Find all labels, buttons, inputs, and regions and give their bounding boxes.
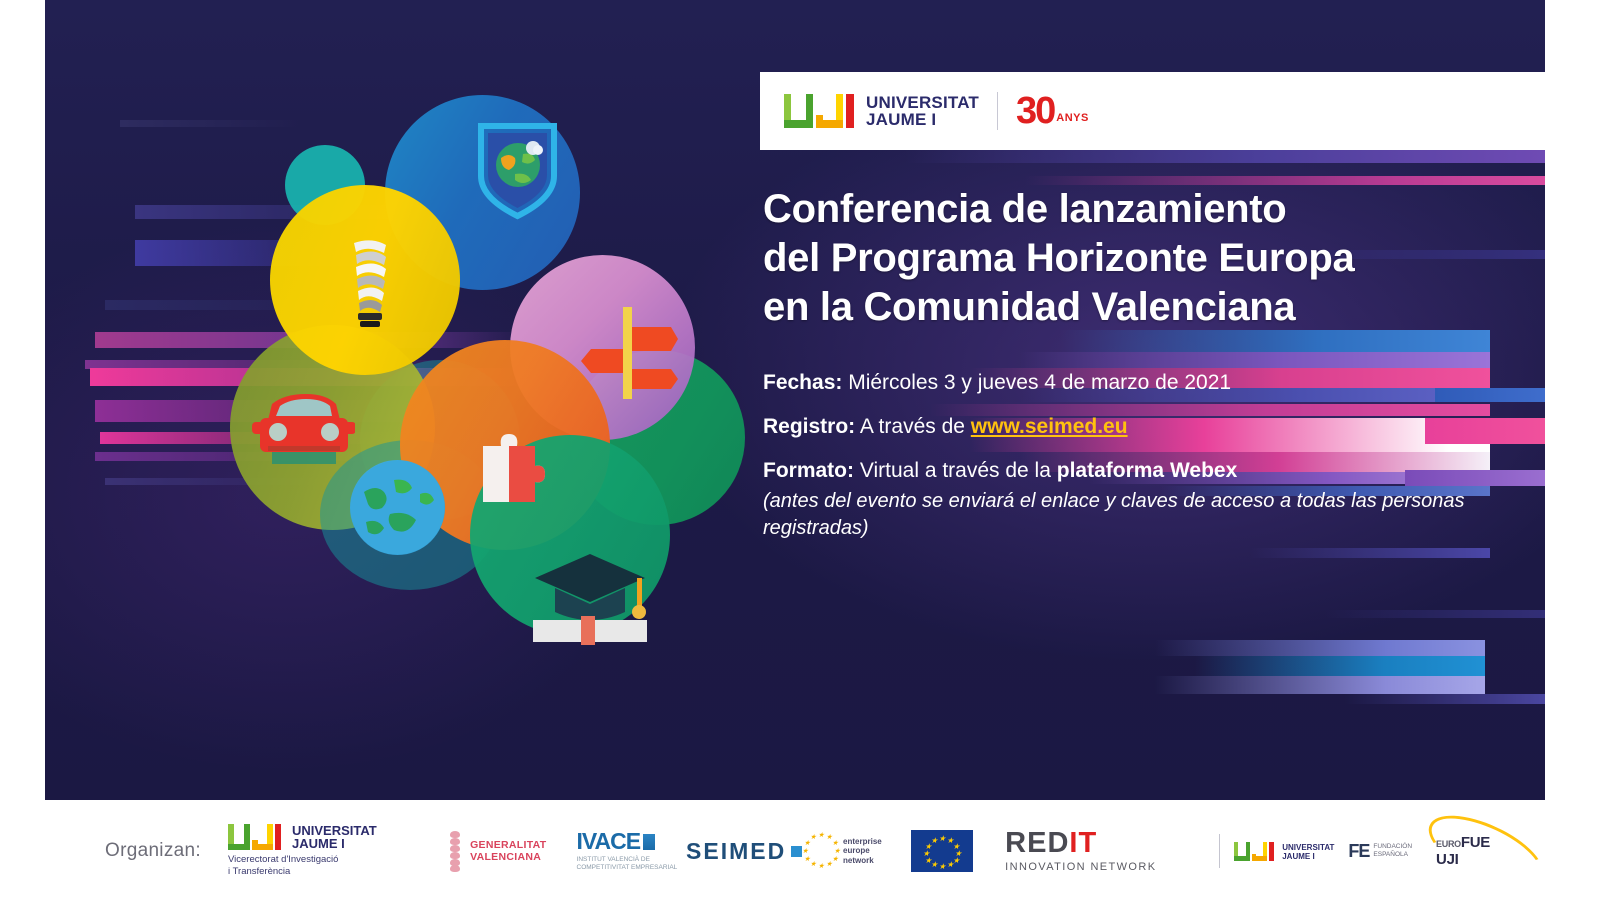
fe-mark: FE (1348, 842, 1369, 860)
fe-subtitle: FUNDACIÓN ESPAÑOLA (1373, 843, 1412, 859)
european-union-flag-icon: ★★ ★★ ★★ ★★ ★★ ★★ (911, 830, 973, 872)
logo-fe: FE FUNDACIÓN ESPAÑOLA (1348, 842, 1412, 860)
uji-wordmark: UNIVERSITAT JAUME I (1282, 843, 1334, 861)
uji-letter-j-icon (252, 824, 273, 850)
uji-subtitle: Vicerectorat d'Investigació i Transferèn… (228, 854, 377, 878)
puzzle-piece-icon (475, 430, 545, 505)
generalitat-line2: VALENCIANA (470, 851, 546, 863)
uji-wordmark: UNIVERSITAT JAUME I (866, 94, 979, 128)
uji-letter-j-icon (816, 94, 843, 128)
uji-letter-j-icon (1252, 842, 1267, 861)
detail-fechas: Fechas: Miércoles 3 y jueves 4 de marzo … (763, 368, 1545, 398)
anniversary-logo: 30 ANYS (1016, 94, 1089, 128)
organizers-label: Organizan: (105, 840, 201, 862)
page-title-line1: Conferencia de lanzamiento (763, 185, 1545, 234)
uji-letter-u-icon (1234, 842, 1250, 861)
uji-letter-u-icon (784, 94, 813, 128)
een-line1: enterprise (843, 837, 882, 847)
shield-globe-icon (475, 120, 560, 220)
seimed-wordmark: SEIMED (686, 840, 802, 863)
ivace-wordmark: IVACE (577, 830, 678, 853)
uji-wordmark-line1: UNIVERSITAT (1282, 843, 1334, 852)
ivace-subtitle-line1: INSTITUT VALENCIÀ DE (577, 856, 678, 864)
ivace-subtitle: INSTITUT VALENCIÀ DE COMPETITIVITAT EMPR… (577, 856, 678, 872)
uji-logo-bar: UNIVERSITAT JAUME I 30 ANYS (760, 72, 1545, 150)
uji-wordmark-line2: JAUME I (292, 837, 377, 850)
redit-part1: RED (1005, 827, 1069, 859)
car-icon (250, 390, 355, 475)
uji-wordmark-line2: JAUME I (1282, 852, 1334, 861)
ivace-name: IVACE (577, 830, 641, 853)
hero-panel: UNIVERSITAT JAUME I 30 ANYS Conferencia … (45, 0, 1545, 800)
detail-formato-value: Virtual a través de la (860, 459, 1051, 482)
detail-fechas-label: Fechas: (763, 371, 842, 394)
registration-link[interactable]: www.seimed.eu (971, 415, 1128, 438)
een-line3: network (843, 856, 882, 866)
logo-enterprise-europe-network: ★★ ★★ ★★ ★★ ★★ ★★ enterprise europe netw… (801, 814, 911, 888)
logo-ivace: IVACE INSTITUT VALENCIÀ DE COMPETITIVITA… (577, 814, 687, 888)
detail-fechas-value: Miércoles 3 y jueves 4 de marzo de 2021 (848, 371, 1231, 394)
ivace-subtitle-line2: COMPETITIVITAT EMPRESARIAL (577, 864, 678, 872)
detail-formato: Formato: Virtual a través de la platafor… (763, 456, 1545, 542)
footer-bar: Organizan: UNIVERSITAT JAUME I V (0, 800, 1598, 900)
logo-uji-small: UNIVERSITAT JAUME I (1234, 842, 1334, 861)
uji-letter-i-icon (1269, 842, 1274, 861)
page-title: Conferencia de lanzamiento del Programa … (763, 185, 1545, 332)
een-wordmark: enterprise europe network (843, 837, 882, 866)
uji-subtitle-line2: i Transferència (228, 866, 377, 878)
page-title-line2: del Programa Horizonte Europa (763, 234, 1545, 283)
logo-divider (997, 92, 998, 130)
een-line2: europe (843, 846, 882, 856)
uji-subtitle-line1: Vicerectorat d'Investigació (228, 854, 377, 866)
logo-generalitat-valenciana: GENERALITAT VALENCIANA (447, 814, 576, 888)
generalitat-line1: GENERALITAT (470, 839, 546, 851)
anniversary-number: 30 (1016, 94, 1054, 128)
uji-letter-i-icon (846, 94, 854, 128)
uji-wordmark-line1: UNIVERSITAT (866, 94, 979, 111)
poster-root: UNIVERSITAT JAUME I 30 ANYS Conferencia … (0, 0, 1598, 900)
fe-subtitle-line1: FUNDACIÓN (1373, 843, 1412, 851)
illustration-circle-cluster (185, 60, 745, 660)
redit-part2: IT (1069, 827, 1097, 859)
page-title-line3: en la Comunidad Valenciana (763, 283, 1545, 332)
uji-logo-mark (784, 94, 854, 128)
detail-registro-label: Registro: (763, 415, 855, 438)
logo-eurofue-uji: EUROFUE UJI (1426, 829, 1518, 873)
lightbulb-icon (340, 235, 400, 335)
uji-letter-i-icon (275, 824, 281, 850)
ivace-square-icon (643, 834, 655, 850)
logo-uji-vicerectorat: UNIVERSITAT JAUME I Vicerectorat d'Inves… (228, 814, 447, 888)
generalitat-wordmark: GENERALITAT VALENCIANA (470, 839, 546, 863)
fe-subtitle-line2: ESPAÑOLA (1373, 851, 1412, 859)
uji-wordmark: UNIVERSITAT JAUME I (292, 824, 377, 850)
detail-formato-note: (antes del evento se enviará el enlace y… (763, 488, 1545, 542)
logo-redit: REDIT INNOVATION NETWORK (1005, 814, 1219, 888)
detail-formato-emphasis: plataforma Webex (1057, 459, 1238, 482)
seimed-name: SEIMED (686, 840, 786, 863)
een-stars-icon: ★★ ★★ ★★ ★★ ★★ ★★ (801, 832, 839, 870)
logo-seimed: SEIMED (686, 814, 801, 888)
event-content: Conferencia de lanzamiento del Programa … (763, 185, 1545, 556)
graduation-cap-icon (525, 540, 655, 645)
uji-letter-u-icon (228, 824, 250, 850)
signpost-arrows-icon (575, 305, 680, 400)
logo-eurofue-group: UNIVERSITAT JAUME I FE FUNDACIÓN ESPAÑOL… (1219, 814, 1518, 888)
detail-registro: Registro: A través de www.seimed.eu (763, 412, 1545, 442)
redit-subtitle: INNOVATION NETWORK (1005, 861, 1156, 873)
anniversary-label: ANYS (1056, 112, 1089, 124)
uji-wordmark-line2: JAUME I (866, 111, 979, 128)
detail-formato-label: Formato: (763, 459, 854, 482)
globe-icon (350, 460, 445, 555)
logo-divider (1219, 834, 1220, 868)
logo-european-union: ★★ ★★ ★★ ★★ ★★ ★★ (911, 814, 1006, 888)
redit-wordmark: REDIT (1005, 829, 1156, 858)
generalitat-emblem-icon (447, 830, 463, 872)
organizer-logos: UNIVERSITAT JAUME I Vicerectorat d'Inves… (228, 814, 1518, 888)
globe-icon-art (350, 460, 445, 555)
detail-registro-value: A través de (860, 415, 965, 438)
